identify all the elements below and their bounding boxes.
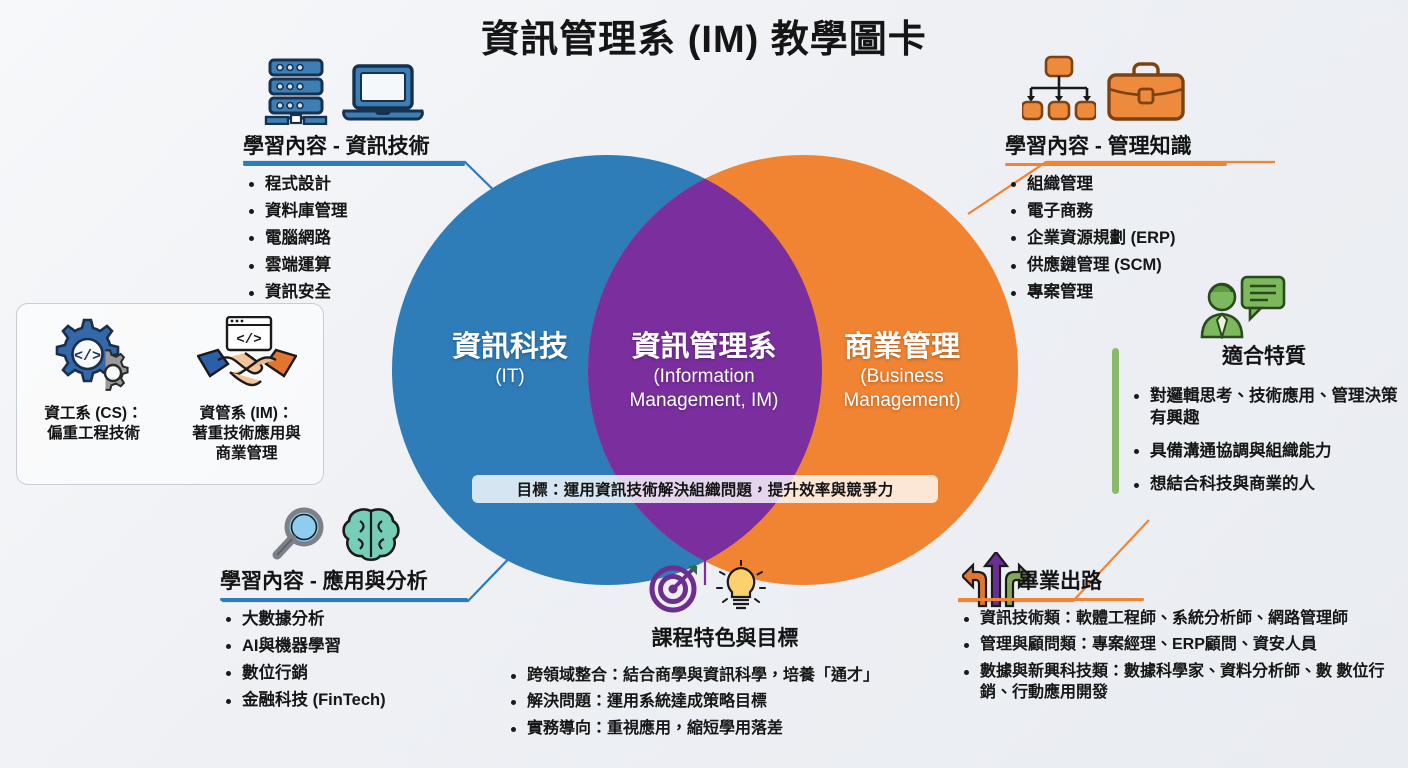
comparison-im-caption: 資管系 (IM)： 著重技術應用與 商業管理 bbox=[192, 404, 301, 463]
list-item: 金融科技 (FinTech) bbox=[220, 689, 500, 711]
brain-icon bbox=[340, 505, 402, 565]
list-item: 程式設計 bbox=[243, 173, 493, 195]
list-item: 電子商務 bbox=[1005, 200, 1275, 222]
list-item: 對邏輯思考、技術應用、管理決策有興趣 bbox=[1128, 385, 1400, 429]
comparison-cs-line1: 資工系 (CS)： bbox=[44, 404, 142, 424]
svg-text:</>: </> bbox=[236, 332, 261, 348]
section-traits-heading: 適合特質 bbox=[1128, 340, 1400, 373]
list-item: 組織管理 bbox=[1005, 173, 1275, 195]
traits-accent-bar bbox=[1112, 348, 1119, 494]
laptop-icon bbox=[342, 63, 424, 125]
briefcase-icon bbox=[1106, 59, 1186, 123]
section-traits: 適合特質 對邏輯思考、技術應用、管理決策有興趣 具備溝通協調與組織能力 想結合科… bbox=[1128, 340, 1400, 506]
section-analytics-heading: 學習內容 - 應用與分析 bbox=[220, 565, 500, 598]
section-career-list: 資訊技術類：軟體工程師、系統分析師、網路管理師 管理與顧問類：專案經理、ERP顧… bbox=[958, 608, 1408, 704]
goal-banner: 目標：運用資訊技術解決組織問題，提升效率與競爭力 bbox=[472, 475, 938, 503]
list-item: 雲端運算 bbox=[243, 254, 493, 276]
list-item: 管理與顧問類：專案經理、ERP顧問、資安人員 bbox=[958, 634, 1408, 655]
list-item: 電腦網路 bbox=[243, 227, 493, 249]
list-item: 資訊技術類：軟體工程師、系統分析師、網路管理師 bbox=[958, 608, 1408, 629]
comparison-im-line2: 著重技術應用與 bbox=[192, 424, 301, 444]
section-it-rule bbox=[243, 163, 465, 166]
section-course-list: 跨領域整合：結合商學與資訊科學，培養「通才」 解決問題：運用系統達成策略目標 實… bbox=[505, 665, 945, 739]
section-it: 學習內容 - 資訊技術 程式設計 資料庫管理 電腦網路 雲端運算 資訊安全 bbox=[243, 130, 493, 309]
list-item: 專案管理 bbox=[1005, 281, 1275, 303]
list-item: 大數據分析 bbox=[220, 608, 500, 630]
handshake-code-icon: </> bbox=[197, 316, 297, 398]
comparison-cs-line2: 偏重工程技術 bbox=[44, 424, 142, 444]
section-analytics: 學習內容 - 應用與分析 大數據分析 AI與機器學習 數位行銷 金融科技 (Fi… bbox=[220, 565, 500, 716]
section-management-heading: 學習內容 - 管理知識 bbox=[1005, 130, 1275, 163]
list-item: 實務導向：重視應用，縮短學用落差 bbox=[505, 718, 945, 739]
list-item: 解決問題：運用系統達成策略目標 bbox=[505, 691, 945, 712]
section-management-list: 組織管理 電子商務 企業資源規劃 (ERP) 供應鏈管理 (SCM) 專案管理 bbox=[1005, 173, 1275, 304]
list-item: 數據與新興科技類：數據科學家、資料分析師、數 數位行銷、行動應用開發 bbox=[958, 661, 1408, 704]
comparison-cs: </> 資工系 (CS)： 偏重工程技術 bbox=[17, 304, 170, 484]
comparison-cs-caption: 資工系 (CS)： 偏重工程技術 bbox=[44, 404, 142, 444]
gear-code-icon: </> bbox=[48, 316, 140, 398]
analytics-icon-row bbox=[268, 505, 402, 565]
section-course: 課程特色與目標 跨領域整合：結合商學與資訊科學，培養「通才」 解決問題：運用系統… bbox=[505, 622, 945, 744]
list-item: 資訊安全 bbox=[243, 281, 493, 303]
section-career-heading: 畢業出路 bbox=[1018, 565, 1408, 598]
management-icon-row bbox=[1022, 55, 1186, 123]
list-item: 具備溝通協調與組織能力 bbox=[1128, 440, 1400, 462]
list-item: 想結合科技與商業的人 bbox=[1128, 473, 1400, 495]
comparison-im-line3: 商業管理 bbox=[192, 444, 301, 464]
section-analytics-rule bbox=[220, 598, 468, 601]
list-item: AI與機器學習 bbox=[220, 635, 500, 657]
comparison-im: </> 資管系 (IM)： 著重技術應用與 商業管理 bbox=[170, 304, 323, 484]
it-icon-row bbox=[262, 55, 424, 125]
section-it-heading: 學習內容 - 資訊技術 bbox=[243, 130, 493, 163]
lightbulb-icon bbox=[714, 560, 768, 614]
list-item: 企業資源規劃 (ERP) bbox=[1005, 227, 1275, 249]
comparison-im-line1: 資管系 (IM)： bbox=[192, 404, 301, 424]
list-item: 跨領域整合：結合商學與資訊科學，培養「通才」 bbox=[505, 665, 945, 686]
section-analytics-list: 大數據分析 AI與機器學習 數位行銷 金融科技 (FinTech) bbox=[220, 608, 500, 711]
org-chart-icon bbox=[1022, 55, 1096, 123]
section-management: 學習內容 - 管理知識 組織管理 電子商務 企業資源規劃 (ERP) 供應鏈管理… bbox=[1005, 130, 1275, 309]
target-arrow-icon bbox=[648, 560, 704, 614]
server-rack-icon bbox=[262, 55, 332, 125]
section-course-heading: 課程特色與目標 bbox=[505, 622, 945, 655]
section-management-rule bbox=[1005, 163, 1227, 166]
section-it-list: 程式設計 資料庫管理 電腦網路 雲端運算 資訊安全 bbox=[243, 173, 493, 304]
list-item: 資料庫管理 bbox=[243, 200, 493, 222]
list-item: 數位行銷 bbox=[220, 662, 500, 684]
section-career-rule bbox=[958, 598, 1144, 601]
comparison-card: </> 資工系 (CS)： 偏重工程技術 </> bbox=[16, 303, 324, 485]
section-traits-list: 對邏輯思考、技術應用、管理決策有興趣 具備溝通協調與組織能力 想結合科技與商業的… bbox=[1128, 385, 1400, 495]
section-career: 畢業出路 資訊技術類：軟體工程師、系統分析師、網路管理師 管理與顧問類：專案經理… bbox=[958, 565, 1408, 709]
course-icon-row bbox=[648, 560, 768, 614]
svg-text:</>: </> bbox=[73, 348, 100, 365]
magnifier-icon bbox=[268, 505, 330, 565]
list-item: 供應鏈管理 (SCM) bbox=[1005, 254, 1275, 276]
